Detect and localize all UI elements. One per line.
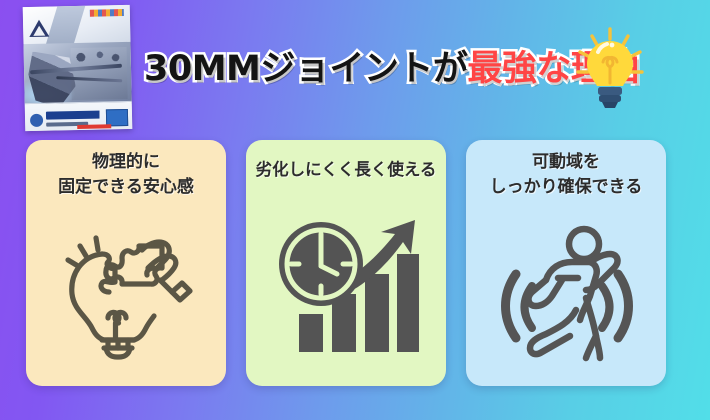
card-2-title-line1: 劣化しにくく長く使える bbox=[256, 160, 437, 179]
box-logo-icon bbox=[30, 114, 43, 127]
running-person-motion-icon bbox=[486, 218, 646, 368]
card-physical-fixing[interactable]: 物理的に固定できる安心感 bbox=[26, 140, 226, 386]
card-3-icon-wrap bbox=[466, 218, 666, 368]
card-2-title: 劣化しにくく長く使える bbox=[246, 158, 446, 182]
title-black-part: 30MMジョイントが bbox=[144, 49, 467, 89]
card-1-title: 物理的に固定できる安心感 bbox=[26, 150, 226, 199]
card-3-title-line1: 可動域を bbox=[532, 152, 600, 172]
benefit-cards: 物理的に固定できる安心感 bbox=[0, 140, 710, 402]
clock-growth-chart-icon bbox=[271, 216, 421, 362]
lightbulb-emoji-icon bbox=[576, 26, 644, 114]
box-color-code bbox=[90, 9, 124, 17]
card-1-title-line1: 物理的に bbox=[92, 152, 160, 172]
lightbulb-puzzle-hand-icon bbox=[56, 224, 196, 360]
page-title: 30MMジョイントが最強な理由 bbox=[144, 40, 574, 98]
header-section: 30MMジョイントが最強な理由 bbox=[0, 0, 710, 136]
card-2-icon-wrap bbox=[246, 216, 446, 362]
card-3-title: 可動域をしっかり確保できる bbox=[466, 150, 666, 199]
card-1-icon-wrap bbox=[26, 224, 226, 360]
card-durability[interactable]: 劣化しにくく長く使える bbox=[246, 140, 446, 386]
card-3-title-line2: しっかり確保できる bbox=[490, 177, 643, 197]
card-1-title-line2: 固定できる安心感 bbox=[58, 177, 194, 197]
product-box-image bbox=[23, 5, 133, 131]
box-parts-art bbox=[71, 47, 128, 100]
title-text: 30MMジョイントが最強な理由 bbox=[144, 52, 640, 87]
brand-triangle-icon bbox=[29, 20, 49, 37]
box-title-strip bbox=[46, 110, 104, 119]
card-range-of-motion[interactable]: 可動域をしっかり確保できる bbox=[466, 140, 666, 386]
box-red-strip bbox=[77, 124, 111, 129]
box-bottom-panel bbox=[25, 101, 133, 132]
slide-canvas: 30MMジョイントが最強な理由 bbox=[0, 0, 710, 420]
